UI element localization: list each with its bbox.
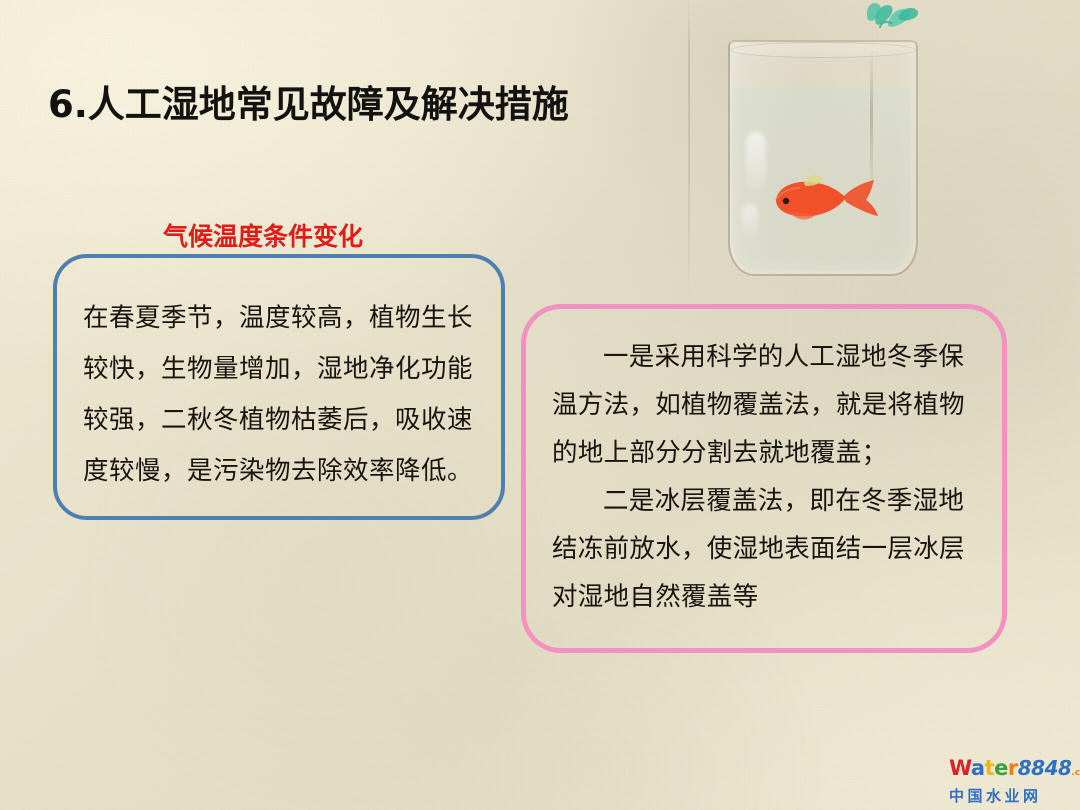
watermark-letter-w: W bbox=[949, 756, 971, 780]
glass-inner-edge bbox=[870, 50, 873, 180]
blue-callout-text: 在春夏季节，温度较高，植物生长较快，生物量增加，湿地净化功能较强，二秋冬植物枯萎… bbox=[57, 258, 501, 496]
pink-callout-text: 一是采用科学的人工湿地冬季保温方法，如植物覆盖法，就是将植物的地上部分分割去就地… bbox=[526, 309, 1002, 621]
watermark-brand-chinese: 中国水业网 bbox=[949, 786, 1075, 806]
watermark-letter-t: t bbox=[985, 756, 995, 780]
green-plant-sprig-icon bbox=[858, 0, 920, 34]
glass-highlight-secondary bbox=[742, 204, 758, 238]
pink-paragraph-1-text: 一是采用科学的人工湿地冬季保温方法，如植物覆盖法，就是将植物的地上部分分割去就地… bbox=[552, 342, 965, 467]
pink-callout-box: 一是采用科学的人工湿地冬季保温方法，如植物覆盖法，就是将植物的地上部分分割去就地… bbox=[521, 304, 1007, 653]
watermark-tld: .com bbox=[1071, 768, 1080, 778]
site-watermark-logo: Water8848.com 中国水业网 bbox=[949, 757, 1075, 804]
goldfish-icon bbox=[768, 168, 880, 224]
goldfish-in-glass-illustration bbox=[700, 0, 950, 292]
watermark-letter-a: a bbox=[971, 756, 985, 780]
watermark-letter-r: r bbox=[1008, 756, 1018, 780]
glass-highlight bbox=[746, 132, 766, 190]
pink-callout-paragraph-1: 一是采用科学的人工湿地冬季保温方法，如植物覆盖法，就是将植物的地上部分分割去就地… bbox=[552, 333, 982, 477]
slide-canvas: 6.人工湿地常见故障及解决措施 气候温度条件变化 在春夏季节，温度较高，植物生长… bbox=[0, 0, 1080, 810]
blue-callout-box: 在春夏季节，温度较高，植物生长较快，生物量增加，湿地净化功能较强，二秋冬植物枯萎… bbox=[53, 254, 505, 520]
glass-rim-icon bbox=[730, 42, 916, 58]
watermark-number: 8848 bbox=[1018, 756, 1072, 780]
watermark-letter-e: e bbox=[994, 756, 1008, 780]
section-subheading: 气候温度条件变化 bbox=[163, 217, 363, 253]
pink-paragraph-2-text: 二是冰层覆盖法，即在冬季湿地结冻前放水，使湿地表面结一层冰层对湿地自然覆盖等 bbox=[552, 486, 965, 611]
paper-seam-line bbox=[688, 0, 690, 300]
watermark-brand-latin: Water8848.com bbox=[949, 757, 1075, 784]
slide-title: 6.人工湿地常见故障及解决措施 bbox=[48, 74, 569, 128]
pink-callout-paragraph-2: 二是冰层覆盖法，即在冬季湿地结冻前放水，使湿地表面结一层冰层对湿地自然覆盖等 bbox=[552, 477, 982, 621]
